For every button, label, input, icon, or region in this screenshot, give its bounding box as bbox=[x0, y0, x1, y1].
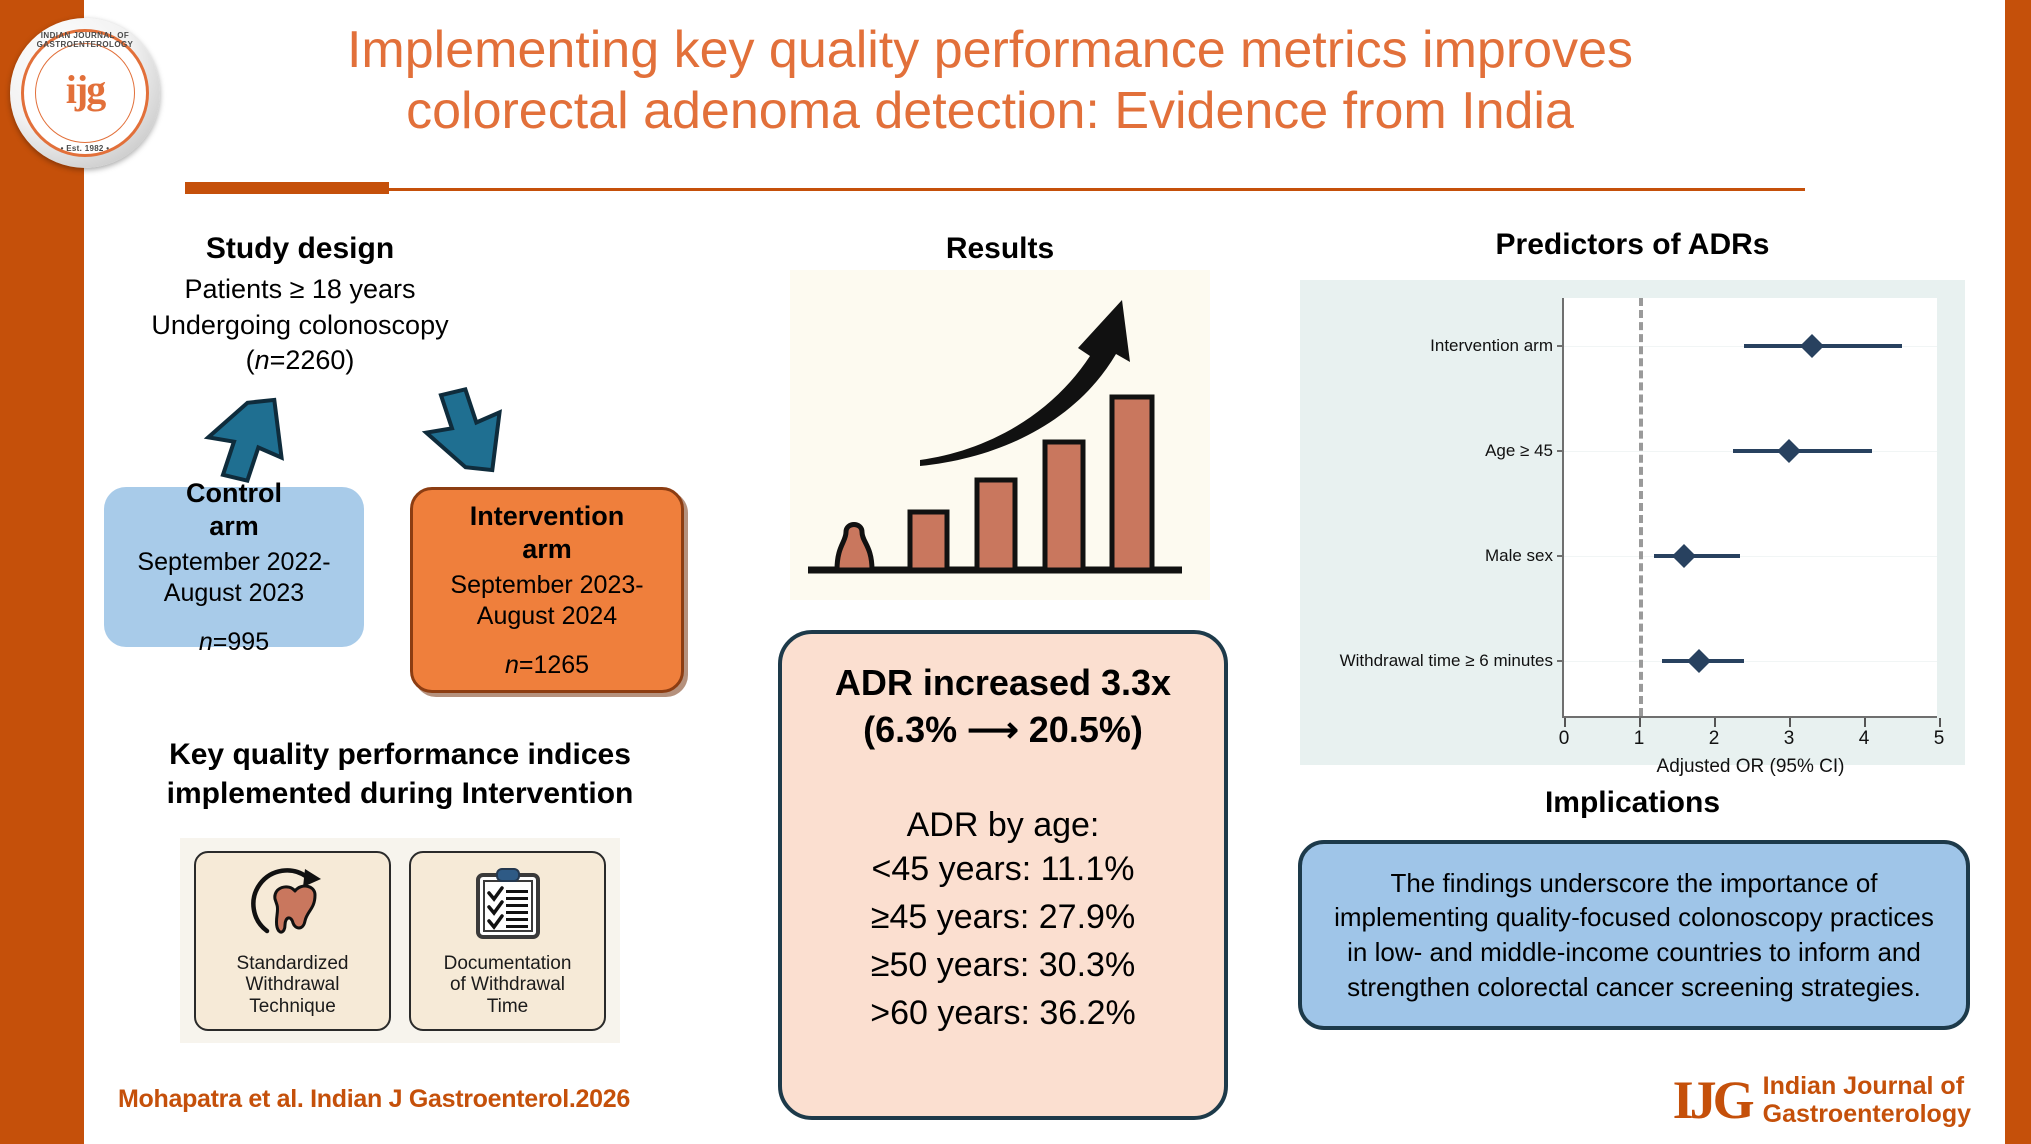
kqpi-card-standardized-withdrawal: Standardized Withdrawal Technique bbox=[194, 851, 391, 1031]
forest-x-tick bbox=[1714, 718, 1716, 727]
study-design-subtext: Patients ≥ 18 years Undergoing colonosco… bbox=[60, 272, 540, 379]
journal-name: Indian Journal of Gastroenterology bbox=[1763, 1072, 1971, 1128]
seal-monogram: ijg bbox=[10, 70, 160, 110]
intervention-arm-box: Intervention arm September 2023- August … bbox=[410, 487, 684, 693]
study-design-line2: Undergoing colonoscopy bbox=[60, 308, 540, 344]
forest-point-estimate bbox=[1687, 649, 1711, 673]
page-title-line1: Implementing key quality performance met… bbox=[180, 20, 1800, 81]
forest-point-estimate bbox=[1672, 544, 1696, 568]
implications-text: The findings underscore the importance o… bbox=[1324, 866, 1944, 1004]
study-design-heading: Study design bbox=[80, 232, 520, 266]
adr-by-age-item: >60 years: 36.2% bbox=[870, 989, 1136, 1037]
forest-point-estimate bbox=[1777, 439, 1801, 463]
forest-y-tick bbox=[1557, 555, 1564, 557]
forest-x-tick bbox=[1639, 718, 1641, 727]
citation-text: Mohapatra et al. Indian J Gastroenterol.… bbox=[118, 1085, 630, 1114]
adr-headline-line1: ADR increased 3.3x bbox=[835, 660, 1171, 707]
forest-x-axis-title: Adjusted OR (95% CI) bbox=[1564, 756, 1937, 778]
control-arm-period: September 2022- August 2023 bbox=[137, 547, 330, 610]
forest-x-label: 2 bbox=[1709, 728, 1720, 750]
forest-y-tick bbox=[1557, 450, 1564, 452]
kqpi-card-1-label-line2: Withdrawal bbox=[237, 974, 349, 996]
forest-row-label-intervention-arm: Intervention arm bbox=[1430, 336, 1553, 356]
page-title-line2: colorectal adenoma detection: Evidence f… bbox=[180, 81, 1800, 142]
results-growth-chart bbox=[790, 270, 1210, 600]
adr-by-age-item: ≥50 years: 30.3% bbox=[870, 941, 1136, 989]
forest-x-label: 4 bbox=[1859, 728, 1870, 750]
forest-gridline bbox=[1564, 661, 1937, 662]
kqpi-card-1-label-line1: Standardized bbox=[237, 953, 349, 975]
n-italic: n bbox=[255, 345, 270, 375]
forest-plot-axes: 0 1 2 3 4 5 Adjusted OR (95% CI) bbox=[1562, 298, 1937, 718]
title-divider-rule bbox=[185, 188, 1805, 191]
adr-by-age-heading: ADR by age: bbox=[907, 806, 1100, 845]
forest-x-tick bbox=[1864, 718, 1866, 727]
forest-gridline bbox=[1564, 556, 1937, 557]
forest-x-label: 0 bbox=[1559, 728, 1570, 750]
adr-headline-line2: (6.3% ⟶ 20.5%) bbox=[835, 707, 1171, 754]
kqpi-card-1-label-line3: Technique bbox=[237, 996, 349, 1018]
results-heading: Results bbox=[790, 232, 1210, 266]
study-design-sample-size: (n=2260) bbox=[60, 343, 540, 379]
study-design-line1: Patients ≥ 18 years bbox=[60, 272, 540, 308]
adr-results-box: ADR increased 3.3x (6.3% ⟶ 20.5%) ADR by… bbox=[778, 630, 1228, 1120]
control-arm-box: Control arm September 2022- August 2023 … bbox=[104, 487, 364, 647]
control-arm-title-line2: arm bbox=[186, 510, 282, 543]
upward-trend-bar-chart-icon bbox=[790, 270, 1210, 600]
forest-plot-panel: Intervention arm Age ≥ 45 Male sex Withd… bbox=[1300, 280, 1965, 765]
forest-x-tick bbox=[1789, 718, 1791, 727]
forest-x-label: 5 bbox=[1934, 728, 1945, 750]
forest-ci-bar bbox=[1654, 554, 1740, 558]
forest-y-tick bbox=[1557, 345, 1564, 347]
kqpi-card-documentation-time: Documentation of Withdrawal Time bbox=[409, 851, 606, 1031]
kqpi-card-1-label: Standardized Withdrawal Technique bbox=[237, 953, 349, 1019]
intervention-n-value: =1265 bbox=[519, 651, 589, 679]
journal-name-line2: Gastroenterology bbox=[1763, 1100, 1971, 1128]
forest-row-label-male-sex: Male sex bbox=[1485, 546, 1553, 566]
forest-row-label-age-45: Age ≥ 45 bbox=[1485, 441, 1553, 461]
forest-x-label: 1 bbox=[1634, 728, 1645, 750]
n-total-value: =2260) bbox=[270, 345, 355, 375]
implications-heading: Implications bbox=[1300, 786, 1965, 820]
journal-seal-logo: INDIAN JOURNAL OF GASTROENTEROLOGY ijg •… bbox=[10, 18, 160, 168]
adr-by-age-item: <45 years: 11.1% bbox=[870, 845, 1136, 893]
arrow-to-intervention-arm bbox=[398, 380, 518, 490]
control-arm-title: Control arm bbox=[186, 477, 282, 543]
implications-box: The findings underscore the importance o… bbox=[1298, 840, 1970, 1030]
forest-null-reference-line bbox=[1639, 298, 1643, 716]
intervention-arm-title-line2: arm bbox=[470, 533, 625, 566]
title-divider-accent bbox=[185, 182, 389, 194]
intervention-n-italic: n bbox=[505, 651, 519, 679]
colon-icon bbox=[245, 865, 341, 947]
arrow-to-control-arm bbox=[180, 380, 300, 490]
predictors-heading: Predictors of ADRs bbox=[1300, 228, 1965, 262]
kqpi-heading: Key quality performance indices implemen… bbox=[80, 735, 720, 813]
kqpi-card-2-label-line1: Documentation bbox=[444, 953, 572, 975]
kqpi-cards-panel: Standardized Withdrawal Technique Docume… bbox=[180, 838, 620, 1043]
adr-by-age-item: ≥45 years: 27.9% bbox=[870, 893, 1136, 941]
seal-curve-text: INDIAN JOURNAL OF GASTROENTEROLOGY bbox=[10, 31, 160, 49]
forest-x-tick bbox=[1939, 718, 1941, 727]
page-title: Implementing key quality performance met… bbox=[180, 20, 1800, 143]
intervention-arm-n: n=1265 bbox=[505, 651, 589, 680]
control-arm-period-line1: September 2022- bbox=[137, 547, 330, 579]
control-n-value: =995 bbox=[213, 628, 269, 656]
forest-row-label-withdrawal-time: Withdrawal time ≥ 6 minutes bbox=[1340, 651, 1553, 671]
forest-y-tick bbox=[1557, 660, 1564, 662]
control-arm-n: n=995 bbox=[199, 628, 269, 657]
forest-x-axis: 0 1 2 3 4 5 Adjusted OR (95% CI) bbox=[1564, 718, 1937, 778]
journal-name-line1: Indian Journal of bbox=[1763, 1072, 1971, 1100]
kqpi-card-2-label-line2: of Withdrawal bbox=[444, 974, 572, 996]
right-accent-bar bbox=[2005, 0, 2031, 1144]
kqpi-card-2-label: Documentation of Withdrawal Time bbox=[444, 953, 572, 1019]
adr-headline: ADR increased 3.3x (6.3% ⟶ 20.5%) bbox=[835, 660, 1171, 754]
intervention-arm-period: September 2023- August 2024 bbox=[450, 570, 643, 633]
kqpi-card-2-label-line3: Time bbox=[444, 996, 572, 1018]
adr-by-age-list: <45 years: 11.1% ≥45 years: 27.9% ≥50 ye… bbox=[870, 845, 1136, 1038]
forest-ci-bar bbox=[1733, 449, 1872, 453]
control-arm-period-line2: August 2023 bbox=[137, 578, 330, 610]
control-arm-title-line1: Control bbox=[186, 477, 282, 510]
intervention-arm-period-line1: September 2023- bbox=[450, 570, 643, 602]
intervention-arm-title-line1: Intervention bbox=[470, 500, 625, 533]
paren-open: ( bbox=[246, 345, 255, 375]
intervention-arm-period-line2: August 2024 bbox=[450, 601, 643, 633]
journal-wordmark: IJG Indian Journal of Gastroenterology bbox=[1673, 1072, 1971, 1128]
intervention-arm-title: Intervention arm bbox=[470, 500, 625, 566]
kqpi-heading-line2: implemented during Intervention bbox=[80, 774, 720, 813]
ijg-monogram: IJG bbox=[1673, 1073, 1751, 1127]
seal-established-text: • Est. 1982 • bbox=[10, 144, 160, 153]
control-n-italic: n bbox=[199, 628, 213, 656]
forest-x-tick bbox=[1564, 718, 1566, 727]
kqpi-heading-line1: Key quality performance indices bbox=[80, 735, 720, 774]
forest-x-label: 3 bbox=[1784, 728, 1795, 750]
left-accent-bar bbox=[0, 0, 84, 1144]
forest-point-estimate bbox=[1799, 334, 1823, 358]
clipboard-checklist-icon bbox=[464, 865, 552, 947]
